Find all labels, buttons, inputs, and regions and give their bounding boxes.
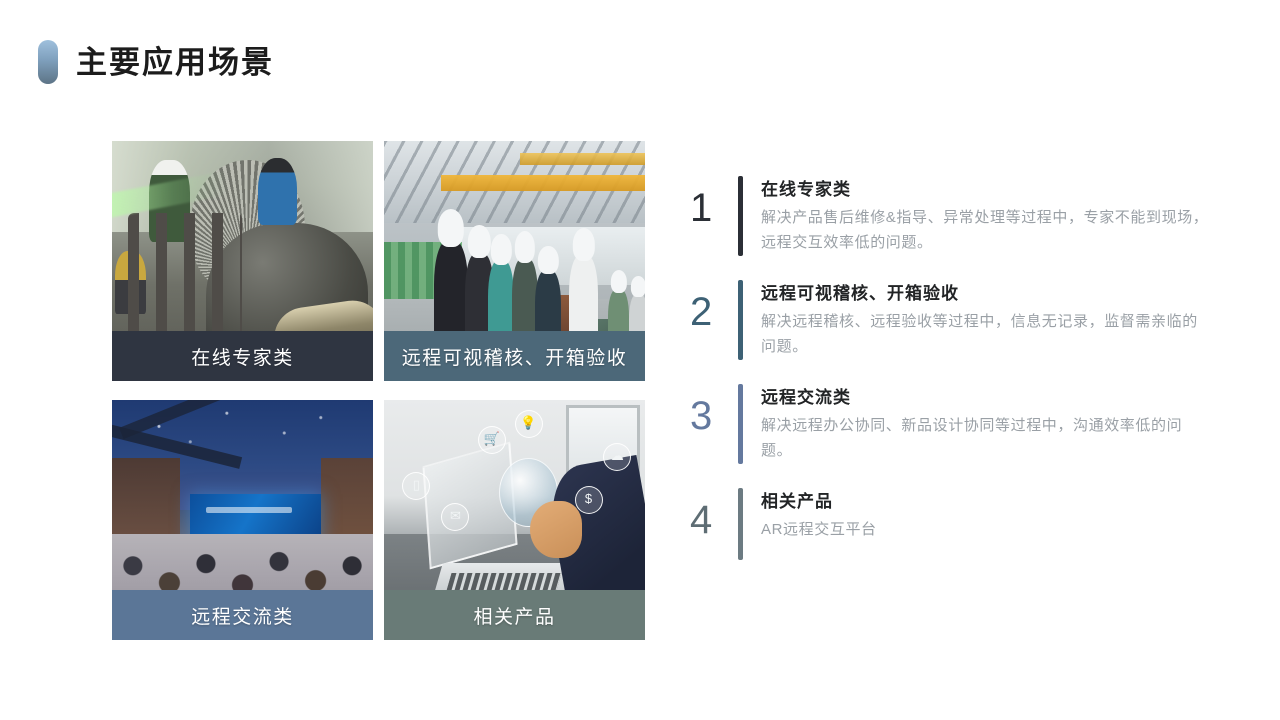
scene-item-title-1: 在线专家类 — [761, 177, 1210, 203]
pill-bullet-icon — [38, 40, 58, 84]
scene-item-1[interactable]: 1 在线专家类 解决产品售后维修&指导、异常处理等过程中，专家不能到现场，远程交… — [690, 176, 1210, 256]
scene-item-number-4: 4 — [690, 488, 738, 540]
scene-card-3[interactable]: 远程交流类 — [112, 400, 373, 640]
scene-item-desc-2: 解决远程稽核、远程验收等过程中，信息无记录，监督需亲临的问题。 — [761, 310, 1210, 359]
dollar-icon: $ — [575, 486, 603, 514]
scene-card-4[interactable]: 🛒 ✉ ▯ ☁ $ 💡 ◌ 相关产品 — [384, 400, 645, 640]
scene-card-1[interactable]: 在线专家类 — [112, 141, 373, 381]
scene-item-4[interactable]: 4 相关产品 AR远程交互平台 — [690, 488, 1210, 560]
scene-item-desc-3: 解决远程办公协同、新品设计协同等过程中，沟通效率低的问题。 — [761, 414, 1210, 463]
scene-item-number-2: 2 — [690, 280, 738, 332]
scene-item-number-3: 3 — [690, 384, 738, 436]
page-title: 主要应用场景 — [76, 47, 274, 78]
scene-items-list: 1 在线专家类 解决产品售后维修&指导、异常处理等过程中，专家不能到现场，远程交… — [690, 176, 1210, 584]
scene-item-2[interactable]: 2 远程可视稽核、开箱验收 解决远程稽核、远程验收等过程中，信息无记录，监督需亲… — [690, 280, 1210, 360]
bulb-icon: 💡 — [515, 410, 543, 438]
scene-card-2[interactable]: 远程可视稽核、开箱验收 — [384, 141, 645, 381]
scene-image-grid: 在线专家类 — [112, 141, 645, 641]
scene-item-title-4: 相关产品 — [761, 489, 1210, 515]
scene-item-accent-bar-3 — [738, 384, 743, 464]
scene-card-caption-4: 相关产品 — [384, 590, 645, 640]
scene-card-caption-1: 在线专家类 — [112, 331, 373, 381]
scene-item-number-1: 1 — [690, 176, 738, 228]
scene-item-3[interactable]: 3 远程交流类 解决远程办公协同、新品设计协同等过程中，沟通效率低的问题。 — [690, 384, 1210, 464]
scene-item-desc-1: 解决产品售后维修&指导、异常处理等过程中，专家不能到现场，远程交互效率低的问题。 — [761, 206, 1210, 255]
scene-card-caption-3: 远程交流类 — [112, 590, 373, 640]
scene-item-accent-bar-2 — [738, 280, 743, 360]
scene-card-caption-2: 远程可视稽核、开箱验收 — [384, 331, 645, 381]
scene-item-desc-4: AR远程交互平台 — [761, 518, 1210, 542]
page-header: 主要应用场景 — [38, 40, 274, 84]
scene-item-accent-bar-4 — [738, 488, 743, 560]
scene-item-title-3: 远程交流类 — [761, 385, 1210, 411]
scene-item-accent-bar-1 — [738, 176, 743, 256]
scene-item-title-2: 远程可视稽核、开箱验收 — [761, 281, 1210, 307]
